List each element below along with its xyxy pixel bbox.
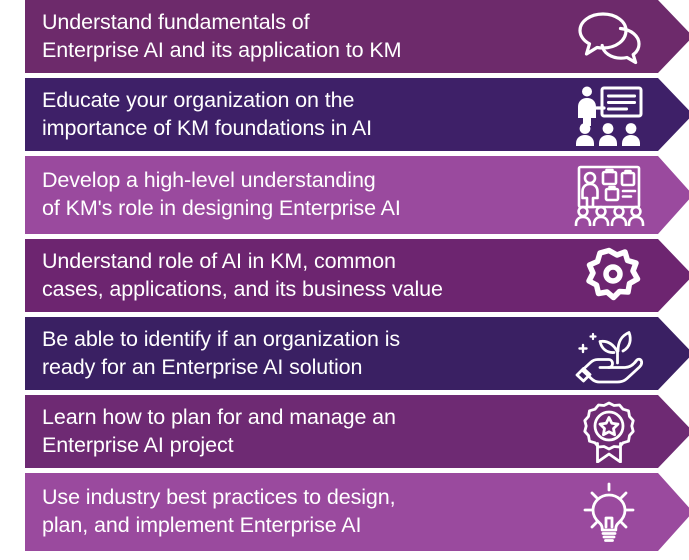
- chevron-row-label: Develop a high-level understanding of KM…: [25, 167, 409, 222]
- chevron-row-label: Be able to identify if an organization i…: [25, 326, 408, 381]
- chevron-row-label: Understand role of AI in KM, common case…: [25, 248, 451, 303]
- chevron-row-label: Educate your organization on the importa…: [25, 87, 380, 142]
- hand-plant-icon: [573, 323, 645, 385]
- award-badge-icon: [573, 401, 645, 463]
- chevron-row[interactable]: Be able to identify if an organization i…: [25, 317, 689, 390]
- chevron-row-label: Understand fundamentals of Enterprise AI…: [25, 9, 409, 64]
- chevron-banner-list: Understand fundamentals of Enterprise AI…: [0, 0, 689, 560]
- chevron-row[interactable]: Understand role of AI in KM, common case…: [25, 239, 689, 312]
- chevron-row[interactable]: Use industry best practices to design, p…: [25, 473, 689, 551]
- chevron-row[interactable]: Develop a high-level understanding of KM…: [25, 156, 689, 234]
- presentation-audience-icon: [573, 84, 645, 146]
- whiteboard-team-icon: [573, 164, 645, 226]
- chevron-row[interactable]: Understand fundamentals of Enterprise AI…: [25, 0, 689, 73]
- chevron-row-label: Learn how to plan for and manage an Ente…: [25, 404, 404, 459]
- chevron-row[interactable]: Educate your organization on the importa…: [25, 78, 689, 151]
- lightbulb-icon: [573, 481, 645, 543]
- gear-icon: [573, 245, 645, 307]
- chevron-row-label: Use industry best practices to design, p…: [25, 484, 404, 539]
- chevron-row[interactable]: Learn how to plan for and manage an Ente…: [25, 395, 689, 468]
- speech-bubbles-icon: [573, 6, 645, 68]
